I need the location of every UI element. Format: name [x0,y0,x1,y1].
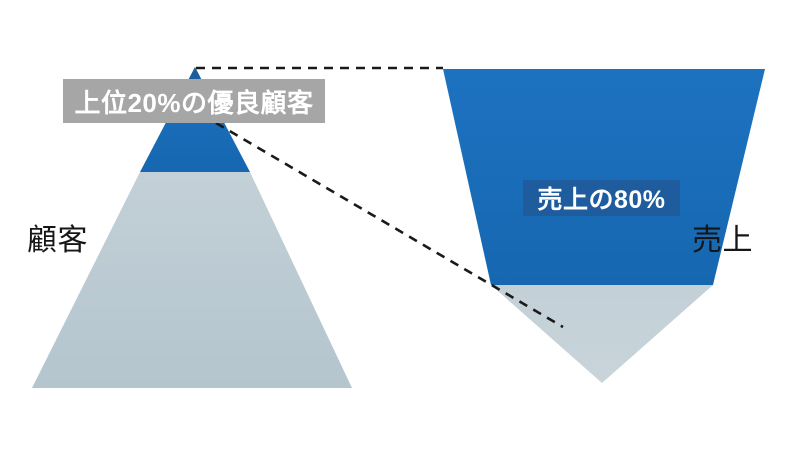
customer-axis-label: 顧客 [27,226,88,256]
top-customers-banner: 上位20%の優良顧客 [63,79,325,123]
sales-share-banner-text: 売上の80% [537,180,665,216]
sales-share-banner: 売上の80% [523,180,680,216]
pyramid-shapes-layer [0,0,801,451]
sales-pyramid-bottom-segment [491,285,713,383]
top-customers-banner-text: 上位20%の優良顧客 [74,83,313,120]
sales-axis-label: 売上 [692,226,753,256]
diagram-canvas: 上位20%の優良顧客 売上の80% 顧客 売上 [0,0,801,451]
customer-pyramid-base-segment [32,172,352,388]
